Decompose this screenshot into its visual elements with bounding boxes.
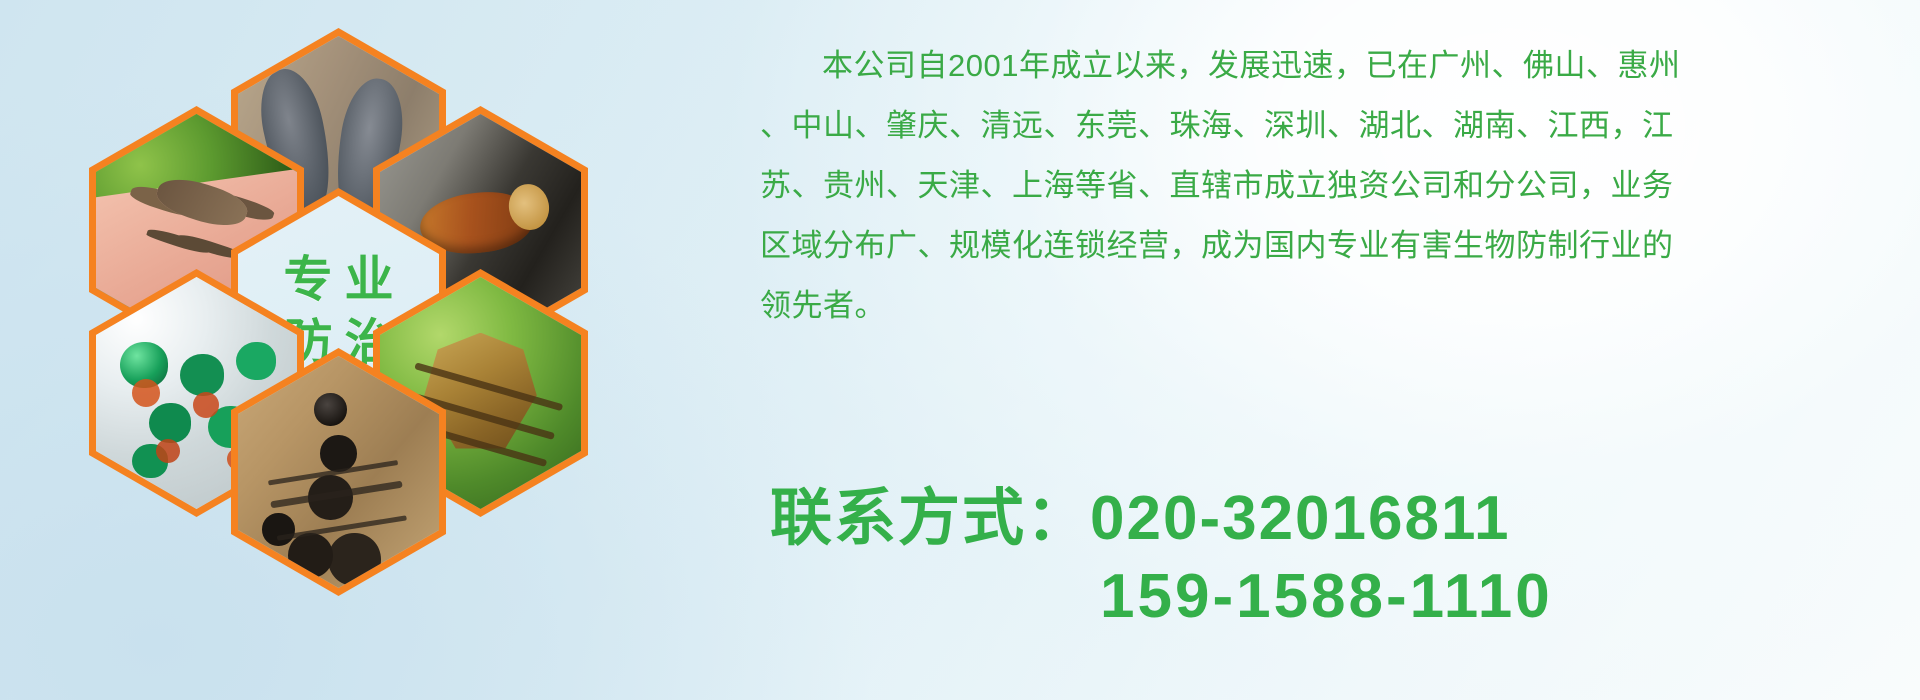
ants-photo-icon	[238, 356, 439, 588]
company-intro-paragraph: 本公司自2001年成立以来，发展迅速，已在广州、佛山、惠州 、中山、肇庆、清远、…	[760, 36, 1870, 336]
center-label-line1: 专业	[271, 256, 405, 305]
contact-phone-mobile[interactable]: 159-1588-1110	[1100, 558, 1870, 636]
intro-line-4: 区域分布广、规模化连锁经营，成为国内专业有害生物防制行业的	[760, 216, 1870, 276]
contact-phone-landline[interactable]: 联系方式：020-32016811	[770, 480, 1870, 558]
promo-banner: 专业 防治 本公司自2001年成立以来，发展迅速，已在广州、佛山、惠州	[0, 0, 1920, 700]
intro-line-5: 领先者。	[760, 276, 1870, 336]
intro-line-2: 、中山、肇庆、清远、东莞、珠海、深圳、湖北、湖南、江西，江	[760, 96, 1870, 156]
intro-line-1: 本公司自2001年成立以来，发展迅速，已在广州、佛山、惠州	[760, 36, 1870, 96]
hex-photo-ants	[238, 356, 439, 588]
intro-line-3: 苏、贵州、天津、上海等省、直辖市成立独资公司和分公司，业务	[760, 156, 1870, 216]
company-intro-block: 本公司自2001年成立以来，发展迅速，已在广州、佛山、惠州 、中山、肇庆、清远、…	[760, 36, 1870, 336]
honeycomb-gallery: 专业 防治	[88, 6, 588, 566]
contact-block: 联系方式：020-32016811 159-1588-1110	[770, 480, 1870, 636]
